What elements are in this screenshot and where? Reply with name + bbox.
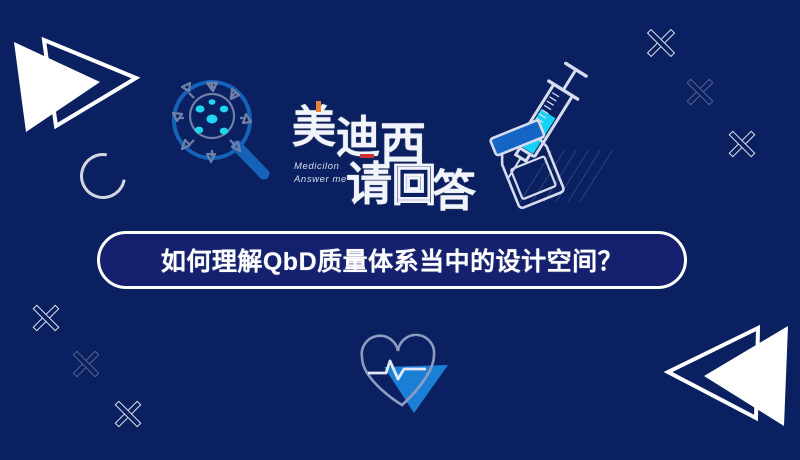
heart-pulse-icon bbox=[352, 327, 458, 415]
triangle-left-decor bbox=[660, 318, 800, 438]
logo-orange-accent bbox=[316, 101, 321, 112]
x-cross-decor bbox=[112, 398, 144, 430]
x-cross-decor bbox=[70, 348, 102, 380]
page-title: 如何理解QbD质量体系当中的设计空间？ bbox=[161, 242, 623, 278]
logo-english-line2: Answer me bbox=[294, 173, 347, 186]
logo-red-accent bbox=[360, 154, 374, 158]
arc-decor bbox=[71, 144, 135, 208]
logo-char-5: 回 bbox=[392, 164, 436, 208]
logo-english-line1: Medicilon bbox=[294, 160, 347, 173]
title-pill: 如何理解QbD质量体系当中的设计空间？ bbox=[97, 231, 687, 289]
banner-root: 美 迪 西 请 回 答 Medicilon Answer me bbox=[0, 0, 800, 460]
x-cross-decor bbox=[644, 26, 678, 60]
x-cross-decor bbox=[30, 302, 62, 334]
x-cross-decor bbox=[684, 76, 716, 108]
logo-char-4: 请 bbox=[346, 162, 392, 208]
logo-english-wrap: Medicilon Answer me bbox=[294, 160, 347, 186]
logo-char-6: 答 bbox=[432, 170, 476, 214]
vial-icon bbox=[482, 118, 578, 210]
logo-char-1: 美 bbox=[292, 106, 336, 150]
triangle-right-decor bbox=[4, 26, 144, 146]
x-cross-decor bbox=[726, 128, 758, 160]
logo-chinese-chars: 美 迪 西 请 回 答 bbox=[288, 92, 468, 220]
medicilon-logo: 美 迪 西 请 回 答 Medicilon Answer me bbox=[288, 92, 468, 220]
magnifier-virus-icon bbox=[168, 76, 272, 182]
